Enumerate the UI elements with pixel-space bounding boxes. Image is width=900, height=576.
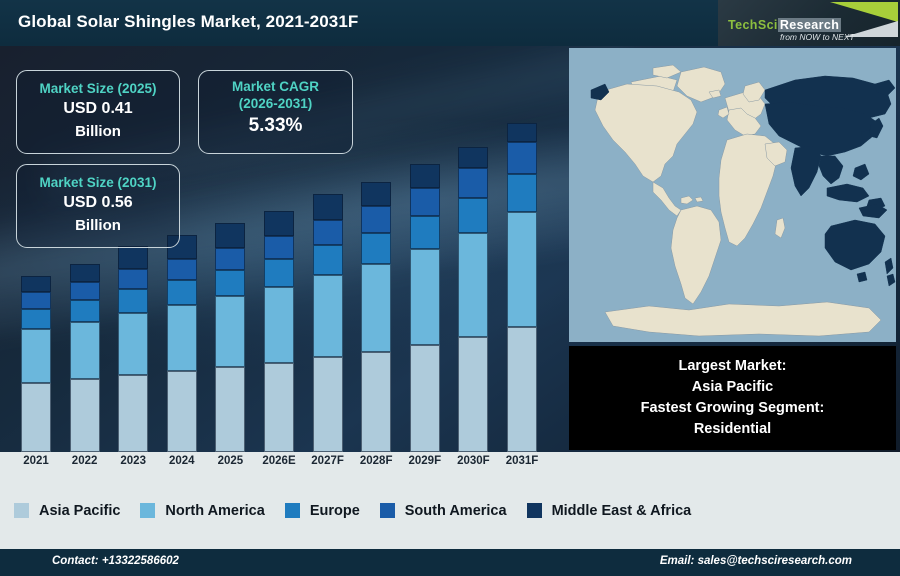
bar-segment-asia-pacific <box>21 383 51 452</box>
bar-2026E <box>264 211 294 452</box>
stat-value-market-size-2025: USD 0.41 <box>17 97 179 121</box>
legend-label: Middle East & Africa <box>552 503 692 519</box>
stat-unit-market-size-2025: Billion <box>17 121 179 143</box>
bar-2022 <box>70 264 100 452</box>
bar-2030F <box>458 147 488 453</box>
bar-2021 <box>21 276 51 452</box>
bar-segment-south-america <box>21 292 51 309</box>
bar-segment-north-america <box>167 305 197 371</box>
legend-label: Europe <box>310 503 360 519</box>
legend-label: Asia Pacific <box>39 503 120 519</box>
bar-segment-north-america <box>264 287 294 363</box>
chart-legend: Asia PacificNorth AmericaEuropeSouth Ame… <box>0 488 900 533</box>
stat-label-market-size-2031: Market Size (2031) <box>17 174 179 191</box>
legend-item-asia-pacific[interactable]: Asia Pacific <box>14 503 120 519</box>
bar-segment-europe <box>313 245 343 274</box>
bar-2031F <box>507 123 537 452</box>
bar-segment-middle-east-africa <box>21 276 51 292</box>
logo-wordmark: TechSciResearch <box>728 18 841 32</box>
bar-segment-europe <box>410 216 440 249</box>
bar-2029F <box>410 164 440 452</box>
bar-segment-north-america <box>70 322 100 380</box>
bar-segment-europe <box>215 270 245 296</box>
footer-email: Email: sales@techsciresearch.com <box>660 555 852 567</box>
bar-2025 <box>215 223 245 452</box>
stat-label-market-size-2025: Market Size (2025) <box>17 80 179 97</box>
bar-segment-asia-pacific <box>410 345 440 452</box>
bar-segment-north-america <box>313 275 343 357</box>
bar-segment-europe <box>361 233 391 264</box>
bar-segment-middle-east-africa <box>410 164 440 188</box>
page-title: Global Solar Shingles Market, 2021-2031F <box>18 12 358 32</box>
bar-segment-asia-pacific <box>264 363 294 452</box>
bar-2024 <box>167 235 197 452</box>
legend-label: South America <box>405 503 507 519</box>
x-axis-label-2031F: 2031F <box>496 455 548 467</box>
bar-segment-middle-east-africa <box>361 182 391 207</box>
fastest-segment-label: Fastest Growing Segment: <box>641 398 825 419</box>
legend-item-north-america[interactable]: North America <box>140 503 264 519</box>
bar-segment-asia-pacific <box>313 357 343 452</box>
legend-swatch-icon <box>14 503 29 518</box>
bar-segment-south-america <box>264 236 294 260</box>
bar-segment-europe <box>264 259 294 287</box>
stat-card-market-cagr: Market CAGR (2026-2031) 5.33% <box>198 70 353 154</box>
x-axis-label-2024: 2024 <box>156 455 208 467</box>
x-axis-label-2026E: 2026E <box>253 455 305 467</box>
bar-segment-south-america <box>215 248 245 270</box>
bar-segment-asia-pacific <box>507 327 537 452</box>
bar-segment-middle-east-africa <box>507 123 537 142</box>
bar-segment-north-america <box>118 313 148 375</box>
world-map-svg <box>569 48 896 342</box>
footer-bar: Contact: +13322586602 Email: sales@techs… <box>0 549 900 576</box>
stat-value-market-cagr: 5.33% <box>199 112 352 140</box>
infographic-root: Global Solar Shingles Market, 2021-2031F… <box>0 0 900 576</box>
bar-segment-asia-pacific <box>361 352 391 452</box>
bar-segment-north-america <box>410 249 440 345</box>
header-bar: Global Solar Shingles Market, 2021-2031F… <box>0 0 900 46</box>
bar-segment-north-america <box>361 264 391 352</box>
stat-card-market-size-2031: Market Size (2031) USD 0.56 Billion <box>16 164 180 248</box>
x-axis-label-2028F: 2028F <box>350 455 402 467</box>
bar-segment-south-america <box>167 259 197 280</box>
x-axis-label-2027F: 2027F <box>302 455 354 467</box>
stat-label-market-cagr-period: (2026-2031) <box>199 95 352 112</box>
x-axis-label-2022: 2022 <box>59 455 111 467</box>
bar-segment-europe <box>167 280 197 305</box>
bar-segment-middle-east-africa <box>70 264 100 282</box>
fastest-segment-value: Residential <box>694 419 771 440</box>
x-axis-label-2030F: 2030F <box>447 455 499 467</box>
x-axis-label-2029F: 2029F <box>399 455 451 467</box>
bar-segment-middle-east-africa <box>215 223 245 248</box>
footer-contact: Contact: +13322586602 <box>52 555 179 567</box>
bar-segment-asia-pacific <box>70 379 100 452</box>
bar-segment-south-america <box>361 206 391 232</box>
bar-segment-south-america <box>118 269 148 289</box>
legend-swatch-icon <box>285 503 300 518</box>
bar-segment-north-america <box>21 329 51 383</box>
bar-segment-europe <box>458 198 488 233</box>
bar-segment-middle-east-africa <box>118 246 148 269</box>
techsci-logo: TechSciResearch from NOW to NEXT <box>718 0 900 46</box>
bar-2028F <box>361 182 391 452</box>
bar-segment-asia-pacific <box>458 337 488 452</box>
largest-market-label: Largest Market: <box>679 356 787 377</box>
bar-segment-asia-pacific <box>118 375 148 452</box>
bar-segment-asia-pacific <box>215 367 245 452</box>
bar-segment-south-america <box>507 142 537 174</box>
x-axis-label-2025: 2025 <box>204 455 256 467</box>
bar-segment-south-america <box>70 282 100 300</box>
legend-item-middle-east-africa[interactable]: Middle East & Africa <box>527 503 692 519</box>
stat-card-market-size-2025: Market Size (2025) USD 0.41 Billion <box>16 70 180 154</box>
stat-value-market-size-2031: USD 0.56 <box>17 191 179 215</box>
legend-swatch-icon <box>380 503 395 518</box>
stat-label-market-cagr: Market CAGR <box>199 78 352 95</box>
bar-segment-europe <box>118 289 148 313</box>
bar-2027F <box>313 194 343 453</box>
largest-market-value: Asia Pacific <box>692 377 773 398</box>
bar-segment-europe <box>507 174 537 213</box>
legend-label: North America <box>165 503 264 519</box>
logo-tagline: from NOW to NEXT <box>780 32 855 42</box>
chart-x-axis: 202120222023202420252026E2027F2028F2029F… <box>0 452 565 478</box>
legend-item-europe[interactable]: Europe <box>285 503 360 519</box>
x-axis-label-2021: 2021 <box>10 455 62 467</box>
logo-brand-tech: TechSci <box>728 18 778 32</box>
bar-segment-north-america <box>215 296 245 367</box>
bar-segment-asia-pacific <box>167 371 197 452</box>
bar-segment-europe <box>21 309 51 329</box>
bar-segment-middle-east-africa <box>264 211 294 236</box>
stat-unit-market-size-2031: Billion <box>17 215 179 237</box>
bar-segment-europe <box>70 300 100 322</box>
bar-segment-north-america <box>507 212 537 327</box>
bar-segment-north-america <box>458 233 488 337</box>
legend-swatch-icon <box>527 503 542 518</box>
legend-item-south-america[interactable]: South America <box>380 503 507 519</box>
bar-segment-middle-east-africa <box>313 194 343 220</box>
bar-2023 <box>118 246 148 452</box>
bar-segment-middle-east-africa <box>458 147 488 169</box>
legend-swatch-icon <box>140 503 155 518</box>
logo-brand-research: Research <box>778 18 842 32</box>
world-map <box>569 48 896 342</box>
bar-segment-south-america <box>458 168 488 198</box>
highlights-box: Largest Market: Asia Pacific Fastest Gro… <box>569 346 896 450</box>
bar-segment-south-america <box>410 188 440 216</box>
bar-segment-south-america <box>313 220 343 245</box>
x-axis-label-2023: 2023 <box>107 455 159 467</box>
